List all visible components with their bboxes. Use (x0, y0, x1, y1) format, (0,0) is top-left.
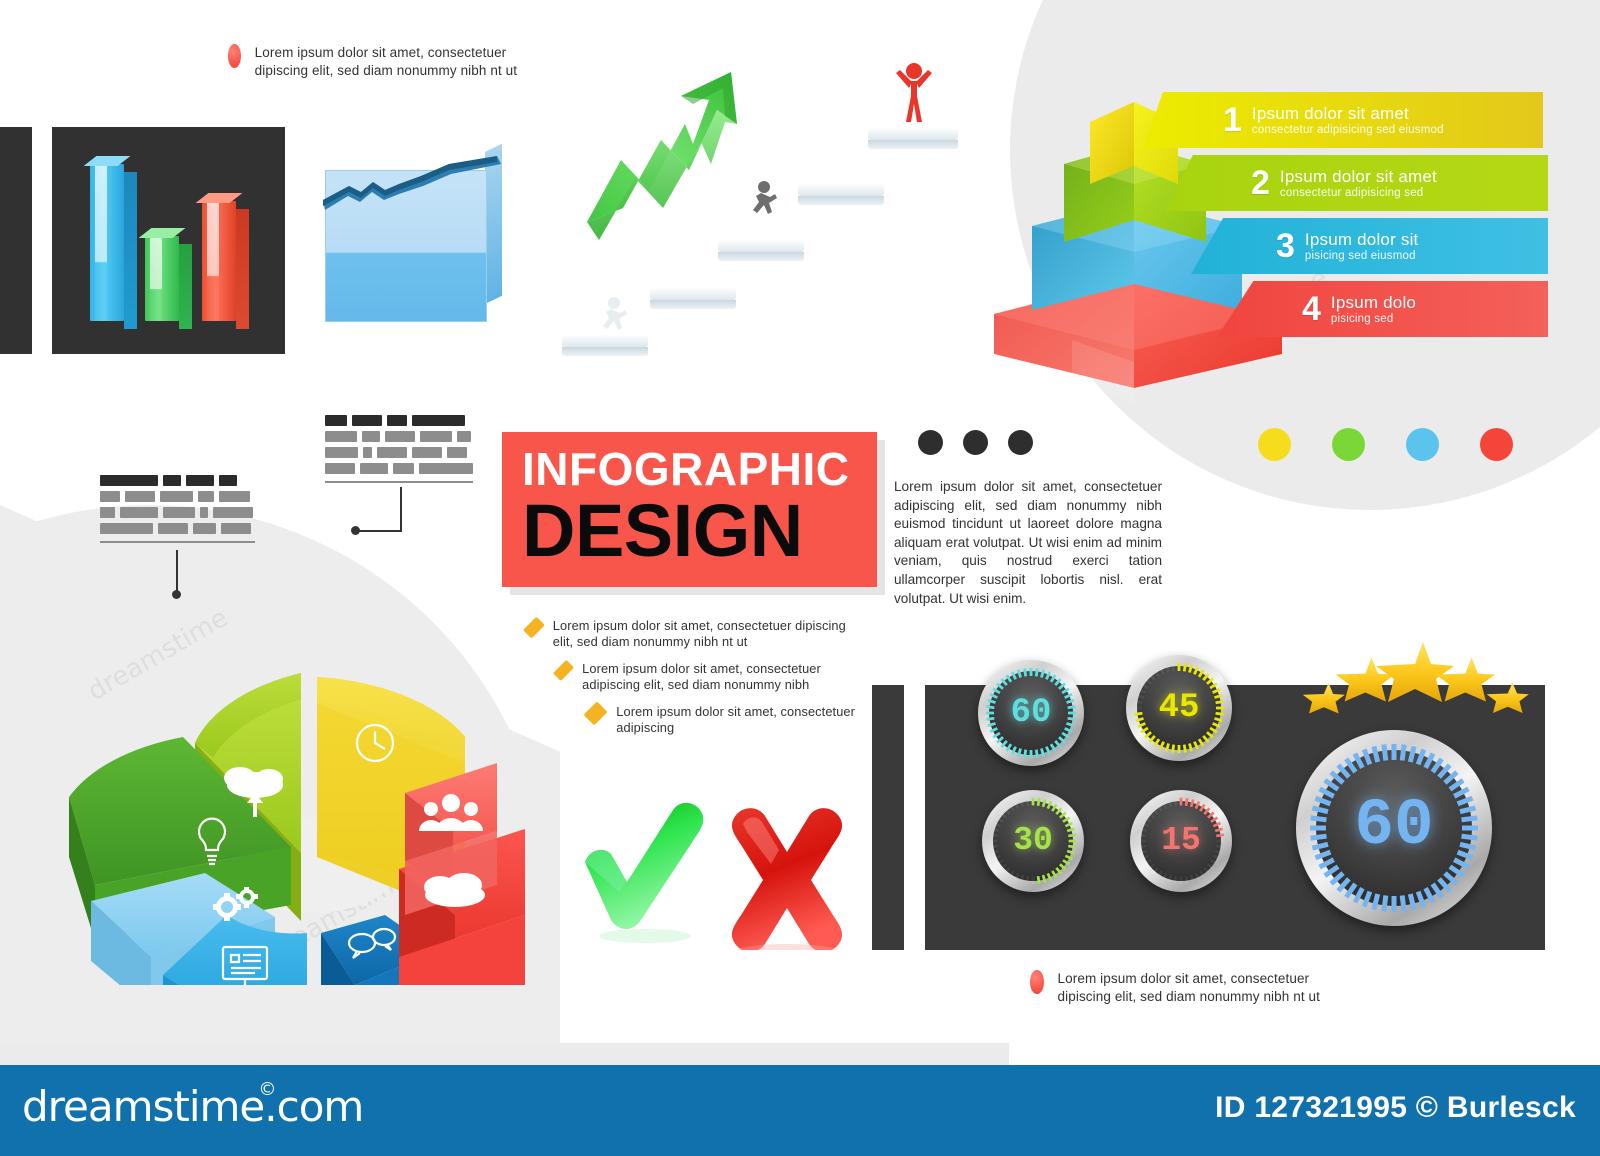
bar-2-gloss (150, 236, 162, 321)
stair-tread (562, 335, 648, 347)
top-left-note-text: Lorem ipsum dolor sit amet, consectetuer… (255, 44, 528, 80)
bullet-list: Lorem ipsum dolor sit amet, consectetuer… (528, 618, 858, 747)
bullet-item-3: Lorem ipsum dolor sit amet, consectetuer… (588, 704, 858, 736)
table-cell (412, 447, 442, 458)
bar-3-side (236, 209, 249, 329)
dreamstime-logo: dreamstime.com © (22, 1082, 363, 1131)
table-cell (385, 431, 415, 442)
table-cell (200, 507, 208, 518)
banner-1-sub: consectetur adipisicing sed eiusmod (1252, 123, 1444, 137)
banner-3-title: Ipsum dolor sit (1305, 230, 1419, 249)
banner-1-title: Ipsum dolor sit amet (1252, 104, 1444, 123)
table-cell (447, 447, 467, 458)
gauge-15-red-value: 15 (1130, 822, 1232, 859)
bar-1-gloss (95, 164, 107, 321)
gauge-60-blue-value: 60 (1296, 788, 1492, 863)
stair-riser (650, 300, 736, 309)
bar-1 (90, 164, 124, 321)
star-5 (1487, 683, 1529, 713)
pyramid-banner-1[interactable]: 1 Ipsum dolor sit amet consectetur adipi… (1143, 92, 1543, 148)
table-cell (325, 447, 358, 458)
cloud-icon (424, 873, 485, 907)
table-cell (198, 491, 214, 502)
registered-mark-icon: © (258, 1079, 275, 1100)
bar-1-side (124, 172, 137, 329)
table-cell (100, 491, 120, 502)
table-cell (387, 415, 407, 426)
gauge-panel-left-strip (872, 685, 904, 950)
table-row (100, 507, 255, 518)
black-dot-1 (918, 430, 943, 455)
dot-yellow-icon[interactable] (1258, 428, 1291, 461)
table-cell (186, 475, 214, 486)
black-dot-2 (963, 430, 988, 455)
red-dot-icon (1030, 970, 1044, 994)
table-cell (412, 415, 465, 426)
table-cell (160, 491, 193, 502)
stair-riser (718, 252, 804, 261)
dot-blue-icon[interactable] (1406, 428, 1439, 461)
table-cell (219, 491, 250, 502)
black-dot-row (918, 430, 1033, 455)
gauge-30-green[interactable]: 30 (982, 790, 1084, 892)
bullet-item-2-text: Lorem ipsum dolor sit amet, consectetuer… (582, 661, 858, 693)
table-cell (325, 431, 357, 442)
3d-bar-chart (0, 127, 285, 354)
banner-2-number: 2 (1251, 166, 1270, 200)
gauge-60-cyan-value: 60 (978, 694, 1084, 732)
bar-2-side (179, 244, 192, 329)
title-line-2: DESIGN (522, 488, 803, 573)
gauge-15-red[interactable]: 15 (1130, 790, 1232, 892)
table-cell (360, 463, 388, 474)
footer-bar: dreamstime.com © ID 127321995 © Burlesck (0, 1065, 1600, 1156)
background-strip (0, 1043, 1009, 1065)
stair-riser (562, 347, 648, 356)
pyramid-banner-3[interactable]: 3 Ipsum dolor sit pisicing sed eiusmod (1191, 218, 1548, 274)
table-row (325, 431, 473, 442)
stair-tread (798, 184, 884, 196)
red-x-icon (732, 808, 842, 950)
diamond-marker-icon (584, 701, 608, 725)
table-cell (219, 475, 237, 486)
table-cell (158, 523, 188, 534)
bar-3 (202, 201, 236, 321)
pyramid-banner-list: 1 Ipsum dolor sit amet consectetur adipi… (1143, 92, 1543, 344)
table-cell (377, 447, 407, 458)
banner-1-number: 1 (1223, 103, 1242, 137)
red-dot-icon (228, 44, 241, 68)
table-cell (363, 447, 372, 458)
panel-white-gap (32, 127, 52, 354)
table-cell (213, 507, 253, 518)
table-cell (100, 523, 153, 534)
area-chart-trend-line (321, 156, 503, 236)
banner-2-title: Ipsum dolor sit amet (1280, 167, 1437, 186)
winner-red-icon (894, 60, 934, 130)
table-cell (221, 523, 251, 534)
table-cell (352, 415, 382, 426)
stair-step-5 (868, 128, 958, 149)
banner-2-sub: consectetur adipisicing sed (1280, 186, 1437, 200)
bullet-item-1: Lorem ipsum dolor sit amet, consectetuer… (528, 618, 858, 650)
table-cell (193, 523, 216, 534)
table-row (325, 463, 473, 474)
stair-tread (718, 240, 804, 252)
stair-riser (868, 140, 958, 149)
banner-4-title: Ipsum dolo (1331, 293, 1416, 312)
table-cell (419, 463, 473, 474)
bottom-note: Lorem ipsum dolor sit amet, consectetuer… (1030, 970, 1350, 1006)
stair-riser (798, 196, 884, 205)
banner-4-sub: pisicing sed (1331, 312, 1416, 326)
bar-3-gloss (207, 201, 219, 321)
black-dot-3 (1008, 430, 1033, 455)
table-row (100, 523, 255, 534)
gauge-30-green-value: 30 (982, 822, 1084, 859)
table-cell (125, 491, 155, 502)
stair-tread (650, 288, 736, 300)
star-3 (1376, 642, 1454, 702)
image-id-text: ID 127321995 © Burlesck (1215, 1091, 1576, 1125)
table-row (325, 415, 473, 426)
bullet-item-2: Lorem ipsum dolor sit amet, consectetuer… (558, 661, 858, 693)
table-placeholder-left (100, 475, 255, 543)
pyramid-banner-4[interactable]: 4 Ipsum dolo pisicing sed (1217, 281, 1548, 337)
stair-step-3 (718, 240, 804, 261)
table-rule (100, 541, 255, 543)
table-cell (100, 475, 158, 486)
table-row (325, 447, 473, 458)
runner-grey-icon (748, 180, 782, 220)
table-cell (325, 463, 355, 474)
table-cell (100, 507, 115, 518)
top-left-note: Lorem ipsum dolor sit amet, consectetuer… (228, 44, 528, 80)
dreamstime-logo-text: dreamstime.com (22, 1082, 363, 1131)
gauge-45-yellow[interactable]: 45 (1126, 655, 1232, 761)
table-cell (420, 431, 452, 442)
bullet-item-3-text: Lorem ipsum dolor sit amet, consectetuer… (616, 704, 858, 736)
gauge-60-blue[interactable]: 60 (1296, 730, 1492, 926)
3d-donut-segments (55, 585, 575, 985)
bar-2 (145, 236, 179, 321)
3d-area-chart (325, 152, 500, 327)
title-block: INFOGRAPHIC DESIGN (502, 432, 877, 587)
bullet-item-1-text: Lorem ipsum dolor sit amet, consectetuer… (553, 618, 858, 650)
runner-white-icon (598, 296, 632, 336)
stair-step-4 (798, 184, 884, 205)
banner-3-number: 3 (1276, 229, 1295, 263)
bottom-note-text: Lorem ipsum dolor sit amet, consectetuer… (1058, 970, 1350, 1006)
gauge-45-yellow-value: 45 (1126, 689, 1232, 727)
table-row (100, 475, 255, 486)
infographic-canvas: dreamstime dreamstime dreamstime dreamst… (0, 0, 1600, 1156)
pyramid-banner-2[interactable]: 2 Ipsum dolor sit amet consectetur adipi… (1166, 155, 1548, 211)
check-and-cross-icons (565, 780, 855, 950)
table-cell (120, 507, 158, 518)
color-dot-row (1258, 428, 1513, 461)
table-cell (362, 431, 380, 442)
star-1 (1303, 683, 1345, 713)
table-cell (163, 507, 195, 518)
body-paragraph: Lorem ipsum dolor sit amet, consectetuer… (894, 478, 1162, 608)
table-placeholder-right (325, 415, 473, 483)
table-row (100, 491, 255, 502)
table-cell (393, 463, 415, 474)
star-4 (1436, 657, 1495, 701)
connector-right (400, 487, 480, 537)
dot-green-icon[interactable] (1332, 428, 1365, 461)
banner-4-number: 4 (1302, 292, 1321, 326)
gauge-60-cyan[interactable]: 60 (978, 660, 1084, 766)
table-cell (457, 431, 471, 442)
dot-red-icon[interactable] (1480, 428, 1513, 461)
table-cell (163, 475, 181, 486)
stair-step-2 (650, 288, 736, 309)
table-cell (325, 415, 347, 426)
table-rule (325, 481, 473, 483)
stair-step-1 (562, 335, 648, 356)
rating-stars (1290, 630, 1540, 730)
banner-3-sub: pisicing sed eiusmod (1305, 249, 1419, 263)
